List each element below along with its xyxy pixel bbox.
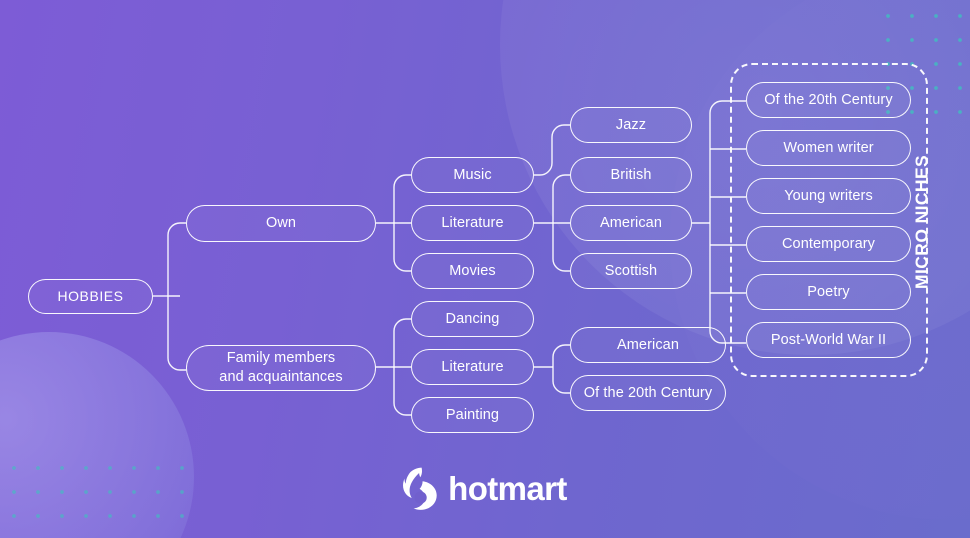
node-label: Literature [441,214,503,233]
node-hobbies[interactable]: HOBBIES [28,279,153,314]
node-literature-family[interactable]: Literature [411,349,534,385]
mindmap-canvas: HOBBIES Own Family members and acquainta… [0,0,970,538]
node-label: Of the 20th Century [584,384,712,403]
node-micro-niche-women-writer[interactable]: Women writer [746,130,911,166]
node-american[interactable]: American [570,205,692,241]
node-label: British [611,166,652,185]
node-label: Dancing [446,310,500,329]
node-of-the-20th-century-family[interactable]: Of the 20th Century [570,375,726,411]
node-painting[interactable]: Painting [411,397,534,433]
node-label: Contemporary [782,235,875,254]
brand-name: hotmart [448,470,567,508]
node-label: Poetry [807,283,850,302]
node-scottish[interactable]: Scottish [570,253,692,289]
node-label: Literature [441,358,503,377]
node-jazz[interactable]: Jazz [570,107,692,143]
node-label: Movies [449,262,496,281]
node-movies[interactable]: Movies [411,253,534,289]
node-label: American [600,214,662,233]
node-label: Of the 20th Century [764,91,892,110]
node-dancing[interactable]: Dancing [411,301,534,337]
node-literature-own[interactable]: Literature [411,205,534,241]
node-label: Jazz [616,116,646,135]
node-label: Music [453,166,491,185]
node-label: Scottish [605,262,657,281]
node-micro-niche-poetry[interactable]: Poetry [746,274,911,310]
node-family-members[interactable]: Family members and acquaintances [186,345,376,391]
node-label: Own [266,214,296,233]
node-micro-niche-young-writers[interactable]: Young writers [746,178,911,214]
node-label: American [617,336,679,355]
node-label: Young writers [784,187,873,206]
flame-icon [403,467,437,511]
node-label: Women writer [783,139,873,158]
node-micro-niche-contemporary[interactable]: Contemporary [746,226,911,262]
node-micro-niche-post-world-war-ii[interactable]: Post-World War II [746,322,911,358]
node-label: HOBBIES [57,288,123,306]
node-british[interactable]: British [570,157,692,193]
node-own[interactable]: Own [186,205,376,242]
node-micro-niche-of-the-20th-century[interactable]: Of the 20th Century [746,82,911,118]
node-label: Post-World War II [771,331,886,350]
node-label: Family members and acquaintances [219,349,342,386]
hotmart-logo: hotmart [0,467,970,511]
micro-niches-label: MICRO NICHES [904,137,940,307]
node-label: Painting [446,406,499,425]
node-music[interactable]: Music [411,157,534,193]
node-american-family[interactable]: American [570,327,726,363]
